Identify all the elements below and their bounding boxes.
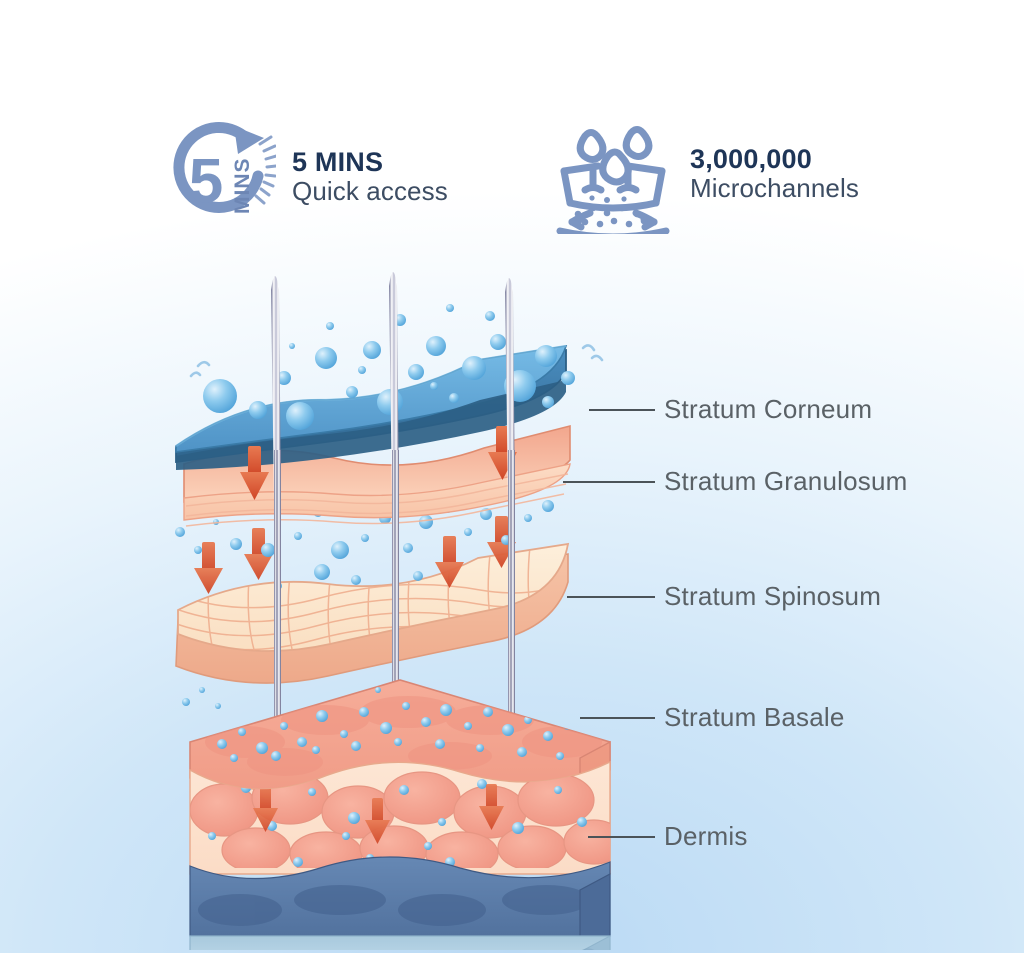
callout-label: Dermis: [664, 821, 748, 852]
badge-title: 3,000,000: [690, 144, 859, 174]
leader-line: [589, 409, 655, 411]
skin-block-3d: [190, 680, 624, 950]
stray-particles: [182, 687, 221, 709]
badge-microchannels: 3,000,000 Microchannels: [552, 108, 859, 239]
leader-line: [588, 836, 655, 838]
callout-stratum-basale[interactable]: Stratum Basale: [580, 702, 845, 733]
callout-label: Stratum Basale: [664, 702, 845, 733]
badge-title: 5 MINS: [292, 147, 448, 177]
badge-five-glyph: 5: [189, 147, 223, 216]
layer-stratum-spinosum: [164, 540, 580, 683]
badge-five-mins: 5 MINS 5 MINS Quick access: [172, 118, 448, 235]
leader-line: [563, 481, 655, 483]
callout-dermis[interactable]: Dermis: [588, 821, 748, 852]
badge-microchannels-text: 3,000,000 Microchannels: [690, 144, 859, 203]
callout-label: Stratum Corneum: [664, 394, 872, 425]
leader-line: [567, 596, 655, 598]
callout-label: Stratum Spinosum: [664, 581, 881, 612]
leader-line: [580, 717, 655, 719]
callout-stratum-corneum[interactable]: Stratum Corneum: [589, 394, 872, 425]
callout-stratum-spinosum[interactable]: Stratum Spinosum: [567, 581, 881, 612]
callout-label: Stratum Granulosum: [664, 466, 907, 497]
badge-subtitle: Microchannels: [690, 174, 859, 203]
base-slab: [190, 936, 610, 950]
stat-badges-row: 5 MINS 5 MINS Quick access: [0, 104, 1024, 254]
illustration-canvas: 5 MINS 5 MINS Quick access: [0, 0, 1024, 953]
badge-subtitle: Quick access: [292, 177, 448, 206]
badge-five-mins-text: 5 MINS Quick access: [292, 147, 448, 206]
badge-mins-glyph: MINS: [231, 158, 254, 215]
five-minutes-clock-icon: 5 MINS: [172, 118, 276, 235]
microchannels-droplet-icon: [552, 108, 674, 239]
callout-stratum-granulosum[interactable]: Stratum Granulosum: [563, 466, 907, 497]
